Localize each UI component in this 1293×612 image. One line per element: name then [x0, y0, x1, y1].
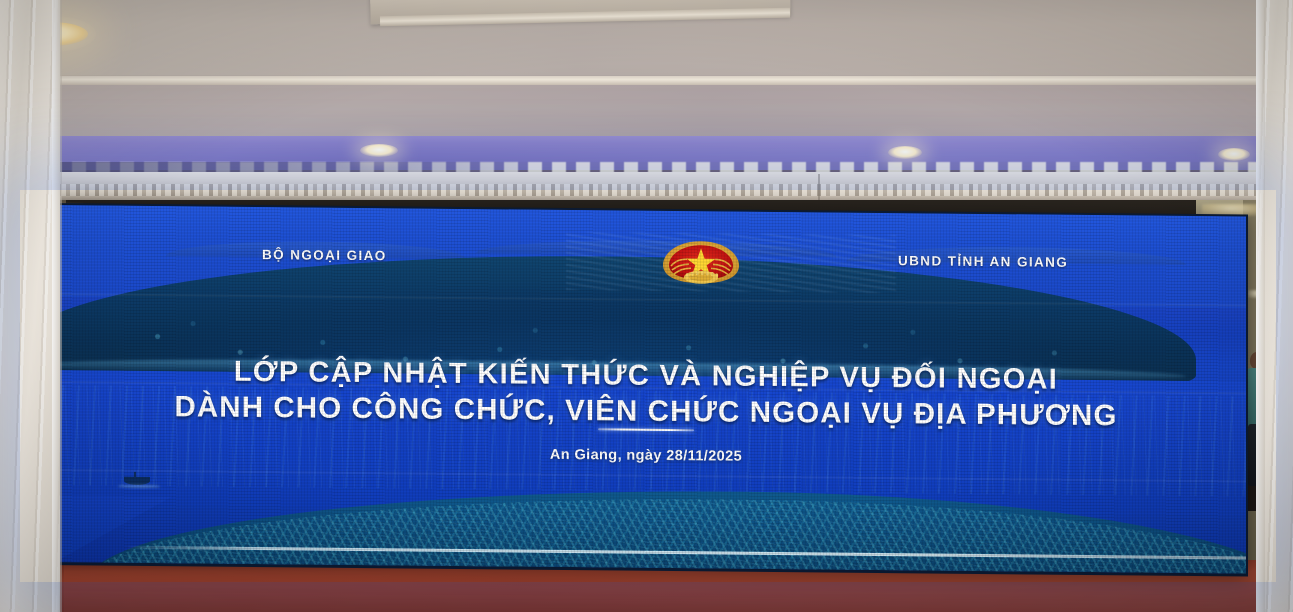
boat-icon	[124, 477, 150, 485]
wavy-wall-panel-left	[0, 0, 60, 612]
slide-title-block: LỚP CẬP NHẬT KIẾN THỨC VÀ NGHIỆP VỤ ĐỐI …	[46, 353, 1246, 435]
ceiling-mid-shading	[0, 85, 1293, 141]
cove-downlight-icon-2	[888, 146, 922, 159]
wall-panel-left-edge	[52, 0, 62, 612]
cove-downlight-icon-3	[1218, 148, 1250, 161]
boat-mast	[134, 472, 136, 478]
organisation-right-label: UBND TỈNH AN GIANG	[898, 253, 1068, 270]
conference-hall-scene: BỘ NGOẠI GIAO	[0, 0, 1293, 612]
organisation-left-label: BỘ NGOẠI GIAO	[262, 247, 387, 263]
led-screen-display[interactable]: BỘ NGOẠI GIAO	[46, 205, 1246, 574]
vietnam-national-emblem-icon	[658, 238, 744, 287]
wall-panel-right-edge	[1256, 0, 1265, 612]
cornice-joint-seam	[818, 174, 820, 202]
cove-downlight-icon-1	[360, 144, 398, 157]
wavy-wall-texture-left	[0, 0, 60, 612]
ceiling-molding-ridge	[0, 76, 1293, 85]
